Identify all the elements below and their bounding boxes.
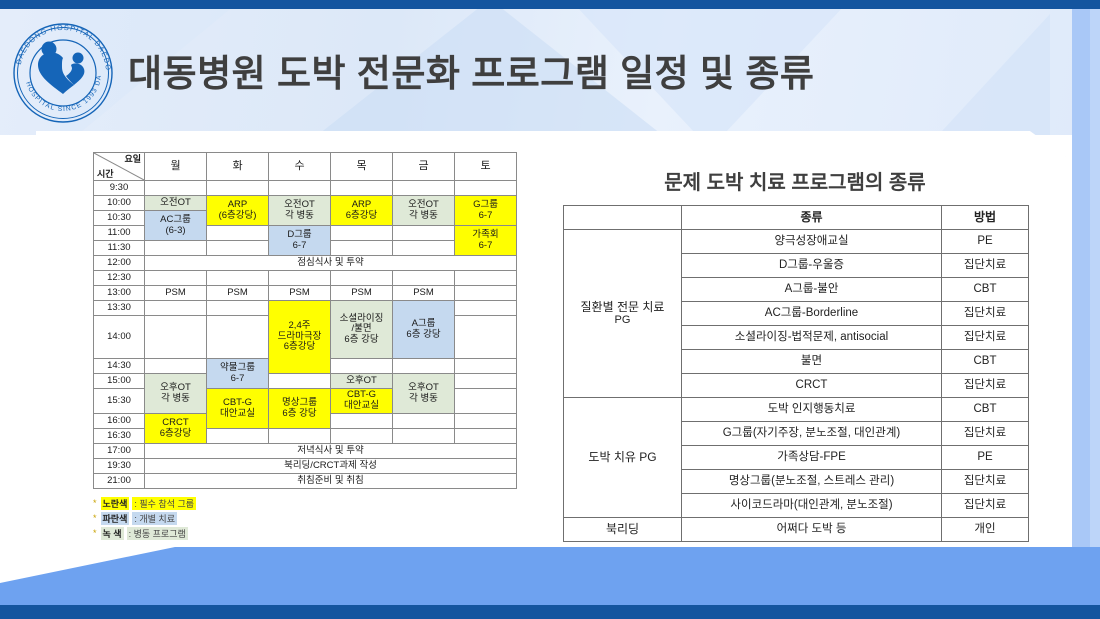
cell-sat-1000: G그룹6-7: [455, 196, 517, 226]
legend-item-green: * 녹 색 : 병동 프로그램: [93, 527, 196, 539]
table-row: 10:00 오전OT ARP(6층강당) 오전OT각 병동 ARP6층강당 오전…: [94, 196, 517, 211]
table-row: 13:00 PSM PSM PSM PSM PSM: [94, 286, 517, 301]
kind-cell: AC그룹-Borderline: [682, 302, 942, 326]
cell-mon-1600: CRCT6층강당: [145, 414, 207, 444]
legend: * 노란색 : 필수 참석 그룹 * 파란색 : 개별 치료 * 녹 색 : 병…: [93, 497, 196, 542]
cell-fri-0930: [393, 181, 455, 196]
cell-thu-1100: [331, 226, 393, 241]
cell-sat-1400: [455, 316, 517, 359]
cell-thu-1000: ARP6층강당: [331, 196, 393, 226]
cell-wed-1630: [269, 429, 331, 444]
method-cell: CBT: [942, 278, 1029, 302]
table-header-row: 종류 방법: [564, 206, 1029, 230]
cell-mon-1330: [145, 301, 207, 316]
cell-tue-1630: [207, 429, 269, 444]
method-cell: 집단치료: [942, 422, 1029, 446]
method-cell: 집단치료: [942, 494, 1029, 518]
legend-bullet-icon: *: [93, 513, 97, 523]
kind-cell: 양극성장애교실: [682, 230, 942, 254]
page-title: 대동병원 도박 전문화 프로그램 일정 및 종류: [128, 40, 988, 100]
weekly-schedule-table: 요일 시간 월 화 수 목 금 토 9:30: [93, 152, 517, 489]
cell-wed-1230: [269, 271, 331, 286]
cell-sat-1100: 가족회6-7: [455, 226, 517, 256]
cell-mon-1000: 오전OT: [145, 196, 207, 211]
cell-tue-0930: [207, 181, 269, 196]
method-cell: 집단치료: [942, 302, 1029, 326]
cell-wed-0930: [269, 181, 331, 196]
cell-mon-1400: [145, 316, 207, 359]
time-label: 15:00: [94, 374, 145, 389]
legend-bullet-icon: *: [93, 498, 97, 508]
bottom-band-notch: [0, 547, 175, 583]
table-row: 도박 치유 PG 도박 인지행동치료 CBT: [564, 398, 1029, 422]
method-cell: PE: [942, 230, 1029, 254]
cell-mon-1430: [145, 359, 207, 374]
time-label: 14:30: [94, 359, 145, 374]
day-header-mon: 월: [145, 153, 207, 181]
cell-fri-1430: [393, 359, 455, 374]
cell-fri-1230: [393, 271, 455, 286]
group-label-disease-sub: PG: [567, 314, 678, 326]
kinds-table-wrapper: 종류 방법 질환별 전문 치료 PG 양극성장애교실 PE D그룹-우울증 집단…: [563, 205, 1029, 542]
legend-text-green: : 병동 프로그램: [127, 527, 188, 540]
cell-tue-1330: [207, 301, 269, 316]
time-label: 16:00: [94, 414, 145, 429]
kinds-header-group: [564, 206, 682, 230]
right-edge-band-inner: [1090, 9, 1100, 547]
corner-day-label: 요일: [124, 154, 141, 164]
kinds-header-method: 방법: [942, 206, 1029, 230]
cell-thu-0930: [331, 181, 393, 196]
cell-tue-1400: [207, 316, 269, 359]
method-cell: 집단치료: [942, 470, 1029, 494]
kind-cell: 명상그룹(분노조절, 스트레스 관리): [682, 470, 942, 494]
day-header-fri: 금: [393, 153, 455, 181]
cell-bookreading: 북리딩/CRCT과제 작성: [145, 459, 517, 474]
cell-mon-0930: [145, 181, 207, 196]
table-row: 북리딩 어쩌다 도박 등 개인: [564, 518, 1029, 542]
cell-sat-1330: [455, 301, 517, 316]
cell-bedtime: 취침준비 및 취침: [145, 474, 517, 489]
time-label: 11:00: [94, 226, 145, 241]
group-label-bookreading: 북리딩: [564, 518, 682, 542]
method-cell: CBT: [942, 398, 1029, 422]
cell-fri-1500: 오후OT각 병동: [393, 374, 455, 414]
method-cell: 개인: [942, 518, 1029, 542]
kind-cell: 어쩌다 도박 등: [682, 518, 942, 542]
cell-wed-1330: 2,4주드라마극장6층강당: [269, 301, 331, 374]
kinds-table-heading: 문제 도박 치료 프로그램의 종류: [560, 166, 1030, 195]
time-label: 10:00: [94, 196, 145, 211]
cell-thu-1300: PSM: [331, 286, 393, 301]
cell-thu-1130: [331, 241, 393, 256]
time-label: 17:00: [94, 444, 145, 459]
legend-bullet-icon: *: [93, 528, 97, 538]
group-label-disease: 질환별 전문 치료 PG: [564, 230, 682, 398]
cell-sat-1630: [455, 429, 517, 444]
legend-text-yellow: : 필수 참석 그룹: [132, 497, 196, 510]
cell-wed-1000: 오전OT각 병동: [269, 196, 331, 226]
cell-wed-1530: 명상그룹6층 강당: [269, 389, 331, 429]
method-cell: 집단치료: [942, 254, 1029, 278]
kind-cell: 도박 인지행동치료: [682, 398, 942, 422]
legend-swatch-blue: 파란색: [101, 512, 130, 525]
time-label: 14:00: [94, 316, 145, 359]
legend-item-blue: * 파란색 : 개별 치료: [93, 512, 196, 524]
hospital-logo: DAEDONG HOSPITAL DAEDONG HOSPITAL SINCE …: [8, 18, 118, 128]
cell-thu-1500: 오후OT: [331, 374, 393, 389]
cell-mon-1500: 오후OT각 병동: [145, 374, 207, 414]
cell-mon-1130: [145, 241, 207, 256]
time-label: 13:30: [94, 301, 145, 316]
cell-tue-1130: [207, 241, 269, 256]
cell-tue-1100: [207, 226, 269, 241]
kind-cell: G그룹(자기주장, 분노조절, 대인관계): [682, 422, 942, 446]
table-row: 12:30: [94, 271, 517, 286]
cell-thu-1430: [331, 359, 393, 374]
cell-sat-1430: [455, 359, 517, 374]
kind-cell: CRCT: [682, 374, 942, 398]
group-label-disease-name: 질환별 전문 치료: [581, 300, 665, 314]
method-cell: CBT: [942, 350, 1029, 374]
bottom-accent-bar: [0, 605, 1100, 619]
table-row: 13:30 2,4주드라마극장6층강당 소셜라이징/불면6층 강당 A그룹6층 …: [94, 301, 517, 316]
cell-fri-1600: [393, 414, 455, 429]
table-row: 19:30 북리딩/CRCT과제 작성: [94, 459, 517, 474]
kind-cell: 소셜라이징-법적문제, antisocial: [682, 326, 942, 350]
day-header-tue: 화: [207, 153, 269, 181]
cell-sat-1230: [455, 271, 517, 286]
cell-sat-1600: [455, 414, 517, 429]
cell-thu-1630: [331, 429, 393, 444]
time-label: 12:00: [94, 256, 145, 271]
top-accent-bar: [0, 0, 1100, 9]
table-row: 21:00 취침준비 및 취침: [94, 474, 517, 489]
cell-dinner: 저녁식사 및 투약: [145, 444, 517, 459]
cell-mon-1030: AC그룹(6-3): [145, 211, 207, 241]
legend-text-blue: : 개별 치료: [132, 512, 177, 525]
cell-mon-1230: [145, 271, 207, 286]
time-label: 15:30: [94, 389, 145, 414]
cell-thu-1230: [331, 271, 393, 286]
method-cell: 집단치료: [942, 326, 1029, 350]
time-label: 9:30: [94, 181, 145, 196]
cell-fri-1130: [393, 241, 455, 256]
day-header-thu: 목: [331, 153, 393, 181]
time-label: 19:30: [94, 459, 145, 474]
cell-thu-1600: [331, 414, 393, 429]
cell-fri-1300: PSM: [393, 286, 455, 301]
cell-tue-1530: CBT-G대안교실: [207, 389, 269, 429]
schedule-table-wrapper: 요일 시간 월 화 수 목 금 토 9:30: [93, 152, 517, 489]
cell-sat-1500: [455, 374, 517, 389]
kind-cell: 사이코드라마(대인관계, 분노조절): [682, 494, 942, 518]
cell-wed-1300: PSM: [269, 286, 331, 301]
cell-tue-1000: ARP(6층강당): [207, 196, 269, 226]
kinds-header-kind: 종류: [682, 206, 942, 230]
kind-cell: 가족상담-FPE: [682, 446, 942, 470]
method-cell: 집단치료: [942, 374, 1029, 398]
day-header-sat: 토: [455, 153, 517, 181]
legend-swatch-yellow: 노란색: [101, 497, 130, 510]
slide: DAEDONG HOSPITAL DAEDONG HOSPITAL SINCE …: [0, 0, 1100, 619]
legend-swatch-green: 녹 색: [101, 527, 124, 540]
program-kinds-table: 종류 방법 질환별 전문 치료 PG 양극성장애교실 PE D그룹-우울증 집단…: [563, 205, 1029, 542]
cell-lunch: 점심식사 및 투약: [145, 256, 517, 271]
cell-sat-0930: [455, 181, 517, 196]
time-label: 21:00: [94, 474, 145, 489]
table-header-row: 요일 시간 월 화 수 목 금 토: [94, 153, 517, 181]
kind-cell: 불면: [682, 350, 942, 374]
table-row: 질환별 전문 치료 PG 양극성장애교실 PE: [564, 230, 1029, 254]
cell-fri-1630: [393, 429, 455, 444]
time-label: 16:30: [94, 429, 145, 444]
cell-thu-1330: 소셜라이징/불면6층 강당: [331, 301, 393, 359]
method-cell: PE: [942, 446, 1029, 470]
cell-tue-1430: 약물그룹6-7: [207, 359, 269, 389]
cell-sat-1300: [455, 286, 517, 301]
corner-header: 요일 시간: [94, 153, 145, 181]
table-row: 17:00 저녁식사 및 투약: [94, 444, 517, 459]
cell-wed-1100: D그룹6-7: [269, 226, 331, 256]
time-label: 10:30: [94, 211, 145, 226]
table-row: 9:30: [94, 181, 517, 196]
legend-item-yellow: * 노란색 : 필수 참석 그룹: [93, 497, 196, 509]
day-header-wed: 수: [269, 153, 331, 181]
cell-tue-1230: [207, 271, 269, 286]
cell-fri-1330: A그룹6층 강당: [393, 301, 455, 359]
cell-fri-1100: [393, 226, 455, 241]
corner-time-label: 시간: [97, 169, 114, 179]
cell-wed-1500: [269, 374, 331, 389]
time-label: 13:00: [94, 286, 145, 301]
cell-mon-1300: PSM: [145, 286, 207, 301]
cell-fri-1000: 오전OT각 병동: [393, 196, 455, 226]
cell-tue-1300: PSM: [207, 286, 269, 301]
time-label: 12:30: [94, 271, 145, 286]
kind-cell: D그룹-우울증: [682, 254, 942, 278]
cell-thu-1530: CBT-G대안교실: [331, 389, 393, 414]
cell-sat-1530: [455, 389, 517, 414]
kind-cell: A그룹-불안: [682, 278, 942, 302]
group-label-gambling: 도박 치유 PG: [564, 398, 682, 518]
time-label: 11:30: [94, 241, 145, 256]
table-row: 12:00 점심식사 및 투약: [94, 256, 517, 271]
table-row: 15:00 오후OT각 병동 오후OT 오후OT각 병동: [94, 374, 517, 389]
